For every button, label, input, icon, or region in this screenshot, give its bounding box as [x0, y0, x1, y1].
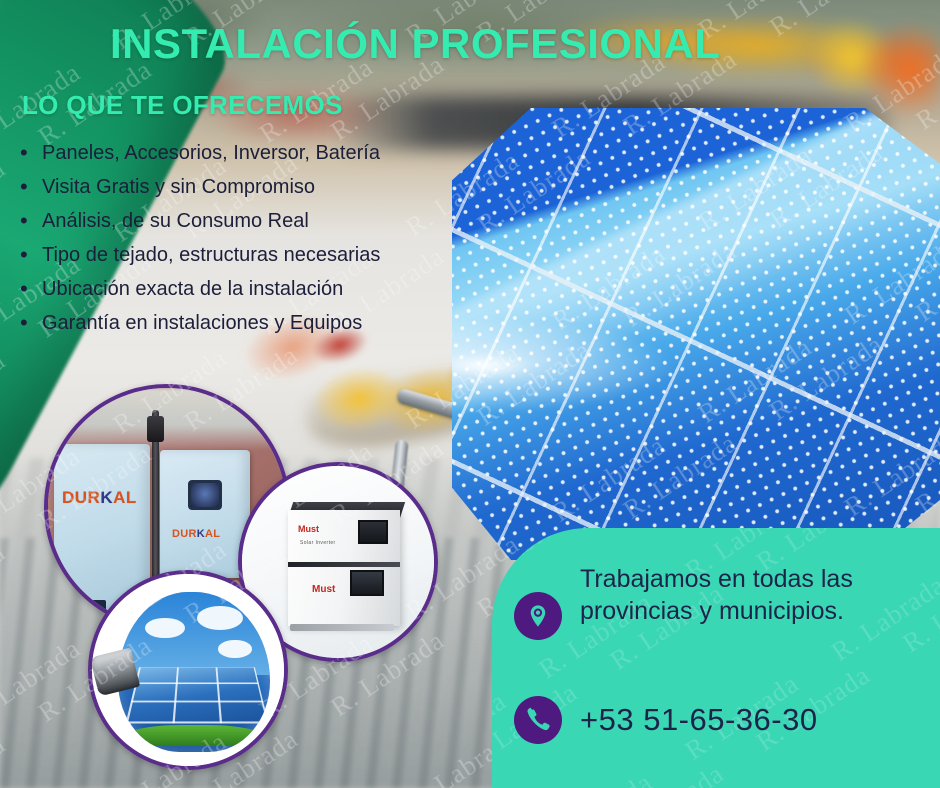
- phone-row[interactable]: +53 51-65-36-30: [514, 696, 818, 744]
- list-item: Análisis, de su Consumo Real: [14, 210, 380, 233]
- product-circle-solar-bulb: [88, 570, 288, 770]
- list-item: Paneles, Accesorios, Inversor, Batería: [14, 142, 380, 165]
- solar-installation-poster: DURKAL DURKAL Must Solar Inverter Must: [0, 0, 940, 788]
- bulb-solar-array: [126, 668, 269, 724]
- bulb-sky: [118, 592, 270, 675]
- list-item: Ubicación exacta de la instalación: [14, 278, 380, 301]
- location-pin-icon: [514, 592, 562, 640]
- coverage-text: Trabajamos en todas las provincias y mun…: [580, 564, 940, 627]
- list-item: Visita Gratis y sin Compromiso: [14, 176, 380, 199]
- inverter-lower-display: [350, 570, 384, 596]
- inverter-model-label: Solar Inverter: [300, 540, 336, 546]
- inverter-brand-upper: Must: [298, 524, 319, 534]
- phone-number[interactable]: +53 51-65-36-30: [580, 702, 818, 738]
- lightbulb-shape: [118, 592, 270, 752]
- inverter-brand-lower: Must: [312, 584, 335, 595]
- page-title: INSTALACIÓN PROFESIONAL: [110, 20, 720, 68]
- inverter-divider: [288, 562, 400, 567]
- solar-panel-hero-image: [452, 108, 940, 560]
- section-subtitle: LO QUE TE OFRECEMOS: [22, 90, 343, 121]
- ceiling-background: [48, 388, 286, 450]
- bulb-grass: [124, 725, 264, 746]
- list-item: Garantía en instalaciones y Equipos: [14, 312, 380, 335]
- telephone-icon: [514, 696, 562, 744]
- wall-inverter-unit: [160, 450, 250, 578]
- inverter-base: [290, 624, 394, 631]
- panel-sun-glare: [452, 307, 718, 425]
- conduit-valve: [147, 416, 164, 442]
- list-item: Tipo de tejado, estructuras necesarias: [14, 244, 380, 267]
- inverter-brand-logo: DURKAL: [172, 528, 220, 540]
- coverage-row: Trabajamos en todas las provincias y mun…: [514, 564, 940, 640]
- battery-brand-logo: DURKAL: [62, 488, 137, 508]
- offers-list: Paneles, Accesorios, Inversor, Batería V…: [14, 142, 380, 346]
- inverter-display: [188, 480, 222, 510]
- inverter-upper-display: [358, 520, 388, 544]
- cloud-icon: [218, 640, 251, 658]
- cloud-icon: [145, 618, 185, 639]
- contact-panel: R. Labrada R. Labrada R. Labrada R. Labr…: [492, 528, 940, 788]
